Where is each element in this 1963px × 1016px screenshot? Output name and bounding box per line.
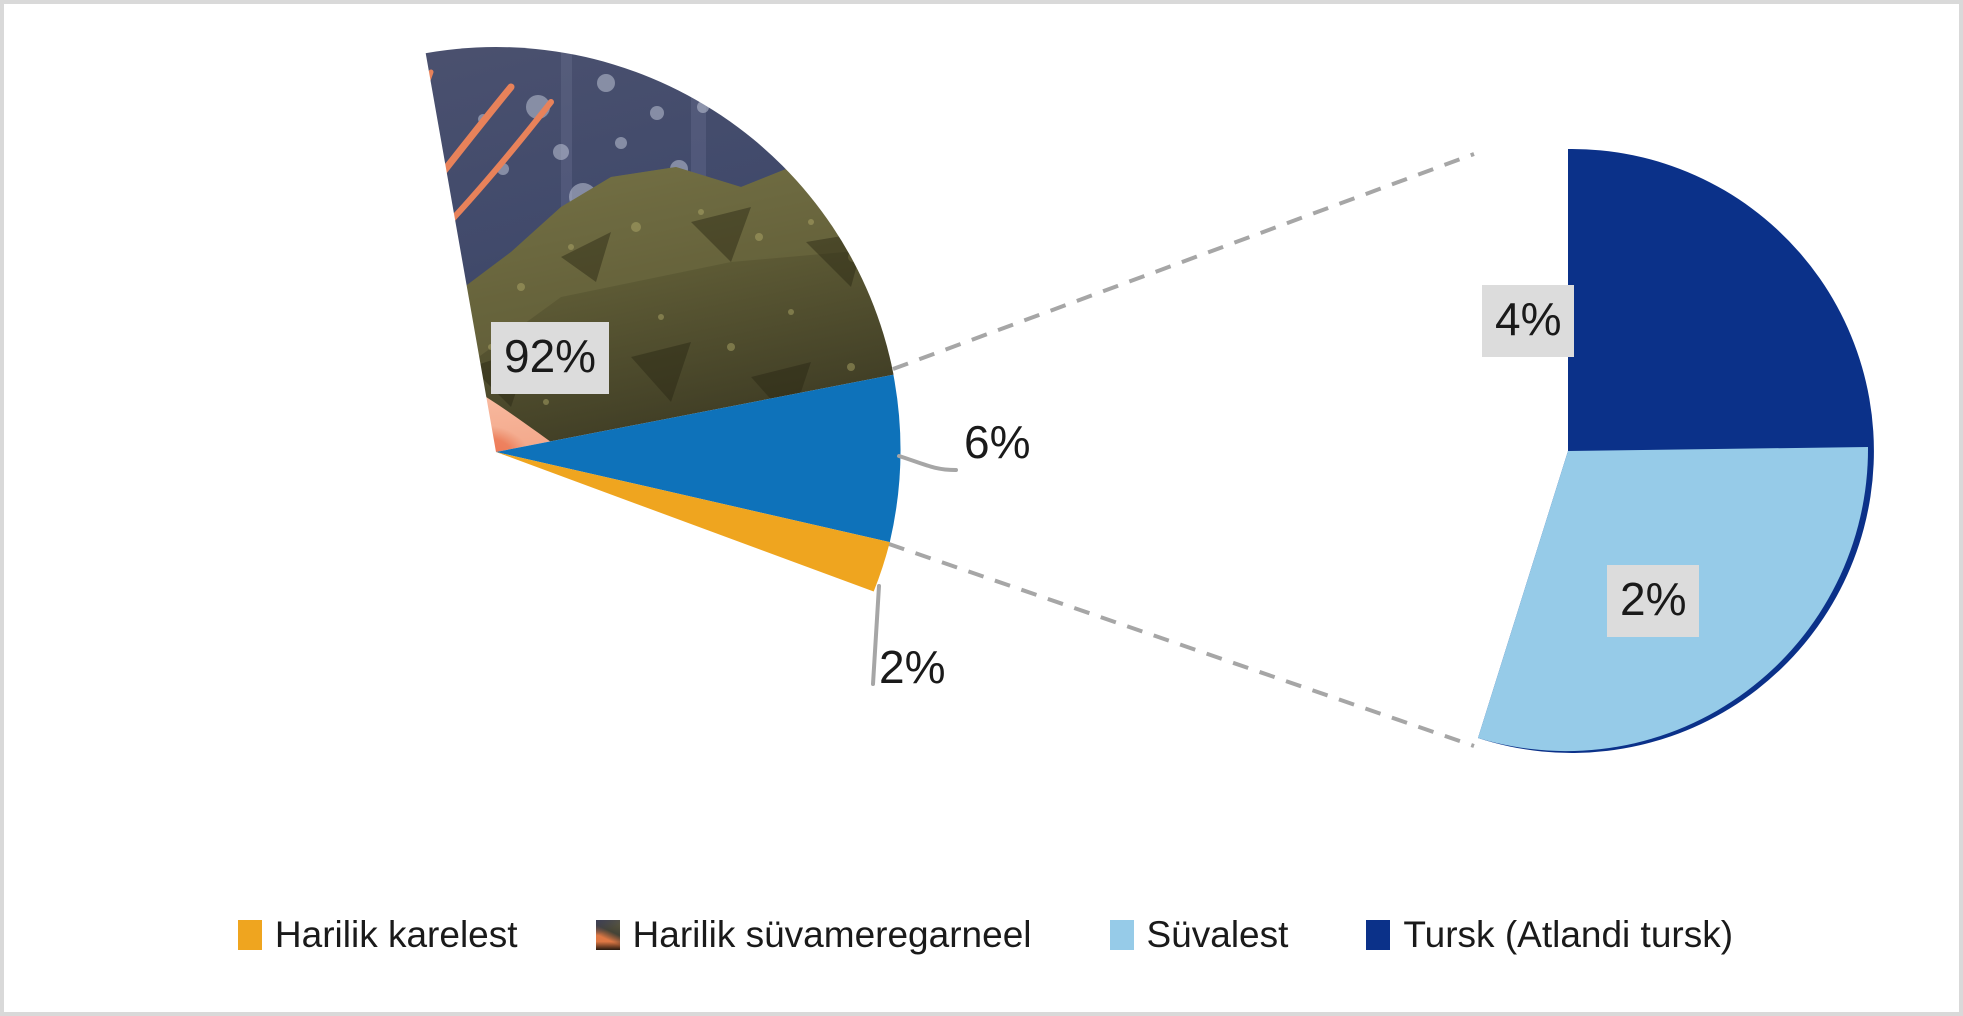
data-label-main-2: 2% bbox=[879, 644, 945, 690]
chart-canvas: 92% 6% 2% 4% 2% Harilik karelest Harilik… bbox=[0, 0, 1963, 1016]
chart-svg bbox=[4, 4, 1963, 1016]
pie-of-pie-chart bbox=[4, 4, 1963, 1016]
main-pie bbox=[418, 4, 1228, 592]
data-label-secondary-2: 2% bbox=[1607, 565, 1699, 637]
connector-lower bbox=[889, 544, 1474, 746]
legend-item-harilik-karelest[interactable]: Harilik karelest bbox=[238, 916, 518, 953]
legend-item-harilik-suvameregarneel[interactable]: Harilik süvameregarneel bbox=[596, 916, 1032, 953]
legend-swatch-light-blue bbox=[1110, 920, 1134, 950]
leader-line-6pct bbox=[899, 456, 956, 470]
legend-item-suvalest[interactable]: Süvalest bbox=[1110, 916, 1289, 953]
chart-legend: Harilik karelest Harilik süvameregarneel… bbox=[4, 916, 1963, 953]
legend-label-suvalest: Süvalest bbox=[1147, 916, 1289, 953]
secondary-pie bbox=[1478, 149, 1874, 753]
legend-item-tursk[interactable]: Tursk (Atlandi tursk) bbox=[1366, 916, 1733, 953]
data-label-main-92: 92% bbox=[491, 322, 609, 394]
legend-label-harilik-suvameregarneel: Harilik süvameregarneel bbox=[633, 916, 1032, 953]
legend-label-tursk: Tursk (Atlandi tursk) bbox=[1403, 916, 1733, 953]
legend-label-harilik-karelest: Harilik karelest bbox=[275, 916, 518, 953]
legend-swatch-photo bbox=[596, 920, 620, 950]
legend-swatch-navy bbox=[1366, 920, 1390, 950]
connector-upper bbox=[893, 154, 1474, 369]
data-label-secondary-4: 4% bbox=[1482, 285, 1574, 357]
legend-swatch-orange bbox=[238, 920, 262, 950]
data-label-main-6: 6% bbox=[964, 419, 1030, 465]
